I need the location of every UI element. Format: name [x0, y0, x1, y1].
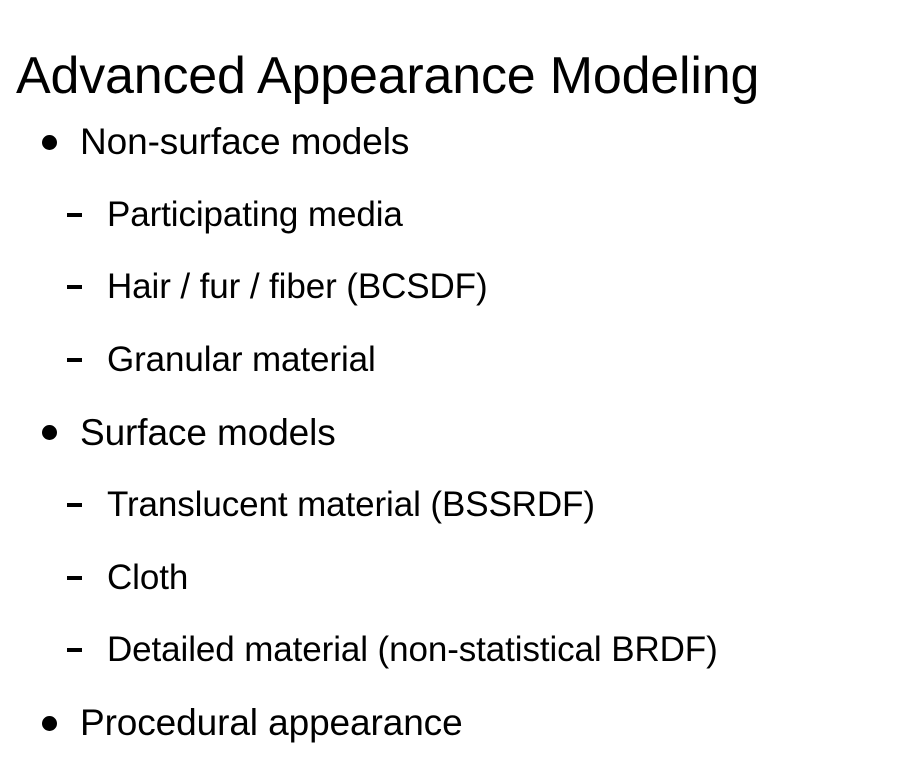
round-bullet-icon	[42, 396, 68, 469]
dash-bullet-icon	[67, 179, 91, 252]
dash-bullet-icon	[67, 324, 91, 397]
list-item: Cloth	[0, 542, 916, 615]
dash-bullet-icon	[67, 614, 91, 687]
list-item: Detailed material (non-statistical BRDF)	[0, 614, 916, 687]
dot-glyph	[42, 716, 57, 731]
list-item: Procedural appearance	[0, 687, 916, 760]
list-item-label: Non-surface models	[80, 106, 409, 179]
list-item-label: Surface models	[80, 396, 336, 469]
dash-glyph	[67, 648, 82, 652]
dash-glyph	[67, 576, 82, 580]
dash-bullet-icon	[67, 542, 91, 615]
list-item-label: Granular material	[107, 324, 376, 397]
list-item-label: Cloth	[107, 542, 188, 615]
page-title: Advanced Appearance Modeling	[16, 39, 900, 113]
list-item-label: Procedural appearance	[80, 687, 463, 760]
dash-glyph	[67, 358, 82, 362]
presentation-slide: Advanced Appearance Modeling Non-surface…	[0, 0, 916, 762]
list-item-label: Hair / fur / fiber (BCSDF)	[107, 251, 488, 324]
dash-glyph	[67, 503, 82, 507]
dot-glyph	[42, 425, 57, 440]
list-item-label: Translucent material (BSSRDF)	[107, 469, 595, 542]
list-item: Translucent material (BSSRDF)	[0, 469, 916, 542]
list-item: Non-surface models	[0, 106, 916, 179]
dash-bullet-icon	[67, 251, 91, 324]
list-item-label: Detailed material (non-statistical BRDF)	[107, 614, 718, 687]
bullet-list: Non-surface modelsParticipating mediaHai…	[0, 106, 916, 759]
list-item-label: Participating media	[107, 179, 403, 252]
round-bullet-icon	[42, 106, 68, 179]
list-item: Participating media	[0, 179, 916, 252]
dash-bullet-icon	[67, 469, 91, 542]
list-item: Surface models	[0, 396, 916, 469]
dash-glyph	[67, 213, 82, 217]
dash-glyph	[67, 285, 82, 289]
dot-glyph	[42, 135, 57, 150]
list-item: Hair / fur / fiber (BCSDF)	[0, 251, 916, 324]
round-bullet-icon	[42, 687, 68, 760]
list-item: Granular material	[0, 324, 916, 397]
